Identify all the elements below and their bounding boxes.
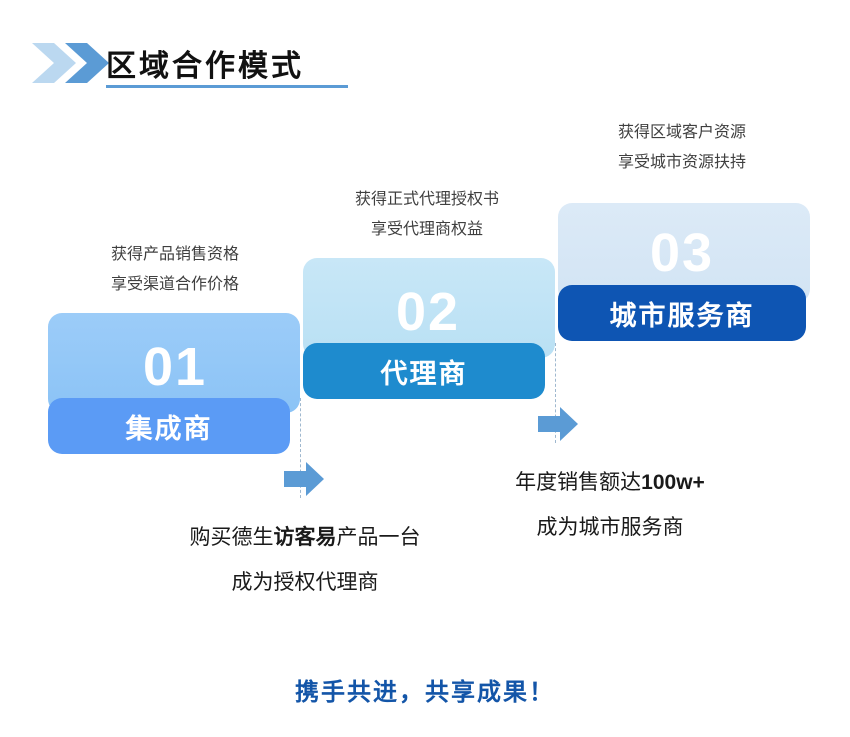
step-01-benefit-1: 获得产品销售资格	[45, 240, 305, 270]
step-03-role-bar[interactable]: 城市服务商	[558, 285, 806, 341]
step-02-role-label: 代理商	[381, 352, 468, 391]
step-01-benefit-2: 享受渠道合作价格	[45, 270, 305, 300]
arrow-right-icon-2	[538, 407, 578, 441]
arrow-right-icon-1	[284, 462, 324, 496]
step-01-benefits: 获得产品销售资格 享受渠道合作价格	[45, 240, 305, 300]
step-02-benefit-1: 获得正式代理授权书	[297, 185, 557, 215]
footer-slogan: 携手共进，共享成果！	[0, 672, 850, 707]
transition-2-highlight: 100w+	[641, 471, 705, 494]
step-01-role-label: 集成商	[126, 407, 213, 446]
transition-1-line-2: 成为授权代理商	[155, 560, 455, 605]
step-02-number: 02	[396, 285, 460, 339]
transition-1-prefix: 购买德生	[190, 526, 274, 549]
step-02-benefits: 获得正式代理授权书 享受代理商权益	[297, 185, 557, 245]
step-03-benefits: 获得区域客户资源 享受城市资源扶持	[552, 118, 812, 178]
transition-2-prefix: 年度销售额达	[515, 471, 641, 494]
partner-tier-diagram: 获得产品销售资格 享受渠道合作价格 01 集成商 获得正式代理授权书 享受代理商…	[0, 0, 850, 737]
transition-1-suffix: 产品一台	[337, 526, 421, 549]
transition-1-description: 购买德生访客易产品一台 成为授权代理商	[155, 515, 455, 605]
step-03-benefit-2: 享受城市资源扶持	[552, 148, 812, 178]
step-03-benefit-1: 获得区域客户资源	[552, 118, 812, 148]
step-02-role-bar[interactable]: 代理商	[303, 343, 545, 399]
step-03-number: 03	[650, 226, 714, 280]
step-02-benefit-2: 享受代理商权益	[297, 215, 557, 245]
transition-1-line-1: 购买德生访客易产品一台	[155, 515, 455, 560]
transition-1-highlight: 访客易	[274, 526, 337, 549]
step-01-number: 01	[143, 340, 207, 394]
transition-2-line-1: 年度销售额达100w+	[460, 460, 760, 505]
transition-2-description: 年度销售额达100w+ 成为城市服务商	[460, 460, 760, 550]
step-01-role-bar[interactable]: 集成商	[48, 398, 290, 454]
transition-2-line-2: 成为城市服务商	[460, 505, 760, 550]
step-03-role-label: 城市服务商	[610, 294, 755, 333]
